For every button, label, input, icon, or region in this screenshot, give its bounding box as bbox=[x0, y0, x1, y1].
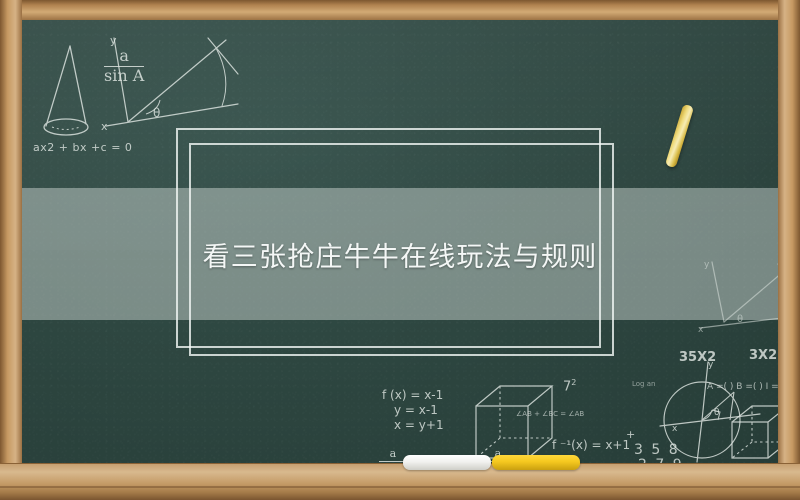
chalk-tray bbox=[0, 463, 800, 500]
frame-left-edge bbox=[0, 0, 22, 500]
page-title-container: 看三张抢庄牛牛在线玩法与规则 bbox=[22, 188, 778, 320]
axis-label-x-bottomright: x bbox=[672, 424, 677, 434]
cone-drawing bbox=[36, 40, 106, 150]
blackboard-surface: a sin A y x θ ax2 + bx +c = 0 y x θ f ( bbox=[22, 20, 778, 465]
seven-exponent: 2 bbox=[571, 378, 576, 387]
angle-label-theta-topleft: θ bbox=[153, 106, 160, 120]
cube-drawing-right bbox=[730, 402, 778, 464]
frame-right-edge bbox=[778, 0, 800, 500]
quadratic-equation-topleft: ax2 + bx +c = 0 bbox=[33, 141, 132, 154]
angle-sum-expression: ∠AB + ∠BC = ∠AB bbox=[516, 410, 584, 418]
fraction-numerator: a bbox=[379, 448, 407, 460]
function-y-equation: y = x-1 bbox=[394, 403, 438, 417]
function-fx-definition: f (x) = x-1 bbox=[382, 388, 443, 402]
function-x-equation: x = y+1 bbox=[394, 418, 444, 432]
matrix-notation: A =( ) B =( ) I =( ) bbox=[707, 382, 778, 392]
axis-label-x-topleft: x bbox=[101, 120, 108, 133]
axis-label-y-bottomright: y bbox=[708, 360, 713, 370]
exponent-seven-squared: 72 bbox=[563, 378, 576, 394]
chalk-tray-lip bbox=[0, 486, 800, 488]
yellow-chalk-stick-tray[interactable] bbox=[492, 455, 580, 470]
frame-top-edge bbox=[0, 0, 800, 20]
axis-label-x-midright: x bbox=[698, 325, 703, 335]
addition-row-one: 3 5 8 bbox=[634, 442, 680, 458]
page-title: 看三张抢庄牛牛在线玩法与规则 bbox=[203, 235, 598, 274]
inverse-function-expression: f ⁻¹(x) = x+1 bbox=[552, 438, 630, 452]
white-chalk-stick[interactable] bbox=[403, 455, 491, 470]
addition-plus-sign: + bbox=[626, 428, 635, 441]
blackboard-frame: a sin A y x θ ax2 + bx +c = 0 y x θ f ( bbox=[0, 0, 800, 500]
angle-label-theta-bottomright: θ bbox=[714, 408, 720, 418]
axis-label-y-topleft: y bbox=[110, 34, 117, 47]
